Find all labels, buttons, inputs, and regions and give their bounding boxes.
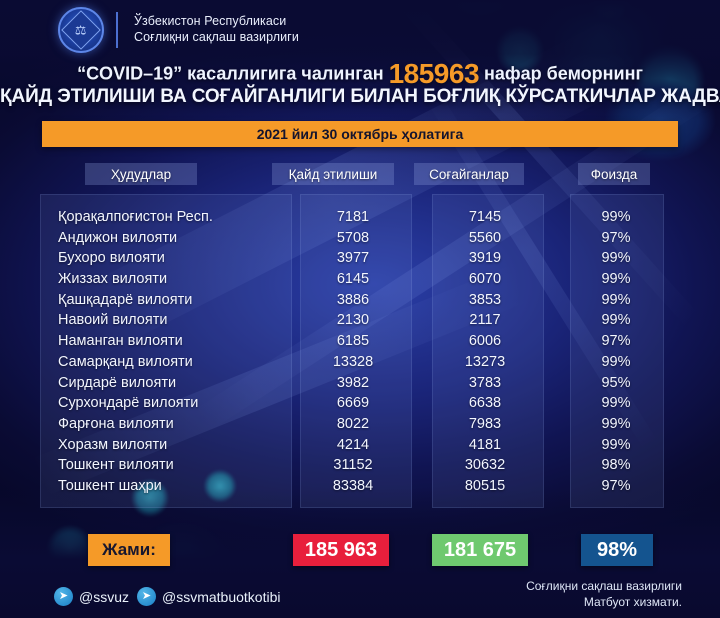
- table-cell-recovered: 2117: [432, 310, 538, 331]
- table-cell-percent: 97%: [570, 228, 662, 249]
- title-prefix: “COVID–19” касаллигига чалинган: [77, 64, 384, 84]
- table-cell-recovered: 6638: [432, 393, 538, 414]
- column-recovered: 7145556039196070385321176006132733783663…: [432, 207, 538, 497]
- totals-percent-box: 98%: [581, 534, 653, 566]
- ministry-emblem-icon: ⚖: [58, 7, 104, 53]
- totals-label-box: Жами:: [88, 534, 170, 566]
- totals-cases-value: 185 963: [305, 539, 377, 562]
- table-cell-region: Самарқанд вилояти: [58, 352, 288, 373]
- table-cell-cases: 6145: [300, 269, 406, 290]
- table-cell-cases: 4214: [300, 435, 406, 456]
- table-cell-recovered: 7145: [432, 207, 538, 228]
- ministry-name: Ўзбекистон Республикаси Соғлиқни сақлаш …: [134, 14, 299, 45]
- table-cell-percent: 99%: [570, 207, 662, 228]
- ministry-name-line2: Соғлиқни сақлаш вазирлиги: [134, 30, 299, 46]
- table-cell-percent: 99%: [570, 435, 662, 456]
- table-cell-cases: 83384: [300, 476, 406, 497]
- table-cell-cases: 7181: [300, 207, 406, 228]
- table-cell-cases: 8022: [300, 414, 406, 435]
- table-cell-percent: 99%: [570, 248, 662, 269]
- table-cell-region: Сирдарё вилояти: [58, 373, 288, 394]
- table-cell-cases: 6669: [300, 393, 406, 414]
- table-cell-percent: 98%: [570, 455, 662, 476]
- table-cell-recovered: 30632: [432, 455, 538, 476]
- table-cell-percent: 99%: [570, 269, 662, 290]
- table-cell-region: Қорақалпоғистон Респ.: [58, 207, 288, 228]
- table-cell-recovered: 3853: [432, 290, 538, 311]
- column-header-label: Қайд этилиши: [289, 167, 378, 182]
- column-cases: 7181570839776145388621306185133283982666…: [300, 207, 406, 497]
- table-cell-percent: 99%: [570, 352, 662, 373]
- date-banner: 2021 йил 30 октябрь ҳолатига: [42, 121, 678, 147]
- telegram-handle-2[interactable]: ➤ @ssvmatbuotkotibi: [137, 587, 280, 606]
- totals-recovered-value: 181 675: [444, 539, 516, 562]
- table-cell-recovered: 7983: [432, 414, 538, 435]
- title-total-count: 185963: [389, 58, 479, 89]
- ministry-name-line1: Ўзбекистон Республикаси: [134, 14, 299, 30]
- table-cell-recovered: 3783: [432, 373, 538, 394]
- table-cell-recovered: 6070: [432, 269, 538, 290]
- table-cell-region: Жиззах вилояти: [58, 269, 288, 290]
- logo-divider: [116, 12, 118, 48]
- totals-cases-box: 185 963: [293, 534, 389, 566]
- table-cell-recovered: 13273: [432, 352, 538, 373]
- telegram-handles: ➤ @ssvuz ➤ @ssvmatbuotkotibi: [54, 587, 280, 606]
- column-header-cases: Қайд этилиши: [272, 163, 394, 185]
- footer-credit: Соғлиқни сақлаш вазирлиги Матбуот хизмат…: [526, 578, 682, 610]
- table-cell-cases: 5708: [300, 228, 406, 249]
- totals-recovered-box: 181 675: [432, 534, 528, 566]
- table-cell-recovered: 4181: [432, 435, 538, 456]
- page-title-line2: ҚАЙД ЭТИЛИШИ ВА СОҒАЙГАНЛИГИ БИЛАН БОҒЛИ…: [0, 86, 720, 108]
- table-cell-cases: 3977: [300, 248, 406, 269]
- table-cell-recovered: 3919: [432, 248, 538, 269]
- table-cell-cases: 3982: [300, 373, 406, 394]
- column-header-recovered: Соғайганлар: [414, 163, 524, 185]
- infographic-page: ⚖ Ўзбекистон Республикаси Соғлиқни сақла…: [0, 0, 720, 618]
- table-cell-region: Наманган вилояти: [58, 331, 288, 352]
- table-cell-region: Хоразм вилояти: [58, 435, 288, 456]
- table-cell-cases: 13328: [300, 352, 406, 373]
- column-header-label: Ҳудудлар: [111, 167, 171, 182]
- table-cell-region: Навоий вилояти: [58, 310, 288, 331]
- table-cell-region: Тошкент вилояти: [58, 455, 288, 476]
- table-cell-region: Сурхондарё вилояти: [58, 393, 288, 414]
- footer-credit-line1: Соғлиқни сақлаш вазирлиги: [526, 578, 682, 594]
- column-regions: Қорақалпоғистон Респ.Андижон вилоятиБухо…: [58, 207, 288, 497]
- table-cell-cases: 2130: [300, 310, 406, 331]
- table-cell-percent: 99%: [570, 310, 662, 331]
- column-header-regions: Ҳудудлар: [85, 163, 197, 185]
- title-suffix: нафар беморнинг: [484, 64, 643, 84]
- footer-credit-line2: Матбуот хизмати.: [526, 594, 682, 610]
- telegram-handle-label: @ssvuz: [79, 589, 129, 605]
- table-cell-recovered: 6006: [432, 331, 538, 352]
- column-header-percent: Фоизда: [578, 163, 650, 185]
- table-cell-percent: 97%: [570, 331, 662, 352]
- totals-percent-value: 98%: [597, 539, 637, 562]
- table-cell-percent: 97%: [570, 476, 662, 497]
- table-cell-region: Фарғона вилояти: [58, 414, 288, 435]
- table-cell-region: Қашқадарё вилояти: [58, 290, 288, 311]
- telegram-icon: ➤: [137, 587, 156, 606]
- table-cell-cases: 6185: [300, 331, 406, 352]
- table-cell-region: Андижон вилояти: [58, 228, 288, 249]
- table-cell-percent: 99%: [570, 393, 662, 414]
- column-percent: 99%97%99%99%99%99%97%99%95%99%99%99%98%9…: [570, 207, 662, 497]
- table-cell-percent: 99%: [570, 414, 662, 435]
- table-cell-percent: 99%: [570, 290, 662, 311]
- totals-label: Жами:: [102, 540, 156, 560]
- table-cell-region: Бухоро вилояти: [58, 248, 288, 269]
- emblem-inner-shape: ⚖: [61, 10, 101, 50]
- emblem-glyph-icon: ⚖: [75, 24, 87, 37]
- telegram-icon: ➤: [54, 587, 73, 606]
- telegram-handle-1[interactable]: ➤ @ssvuz: [54, 587, 129, 606]
- table-cell-cases: 3886: [300, 290, 406, 311]
- column-header-label: Фоизда: [591, 167, 638, 182]
- date-banner-text: 2021 йил 30 октябрь ҳолатига: [257, 126, 464, 142]
- telegram-handle-label: @ssvmatbuotkotibi: [162, 589, 280, 605]
- table-cell-cases: 31152: [300, 455, 406, 476]
- table-cell-recovered: 5560: [432, 228, 538, 249]
- table-cell-recovered: 80515: [432, 476, 538, 497]
- table-cell-percent: 95%: [570, 373, 662, 394]
- ministry-logo-block: ⚖ Ўзбекистон Республикаси Соғлиқни сақла…: [58, 7, 299, 53]
- column-header-label: Соғайганлар: [429, 167, 509, 182]
- table-cell-region: Тошкент шаҳри: [58, 476, 288, 497]
